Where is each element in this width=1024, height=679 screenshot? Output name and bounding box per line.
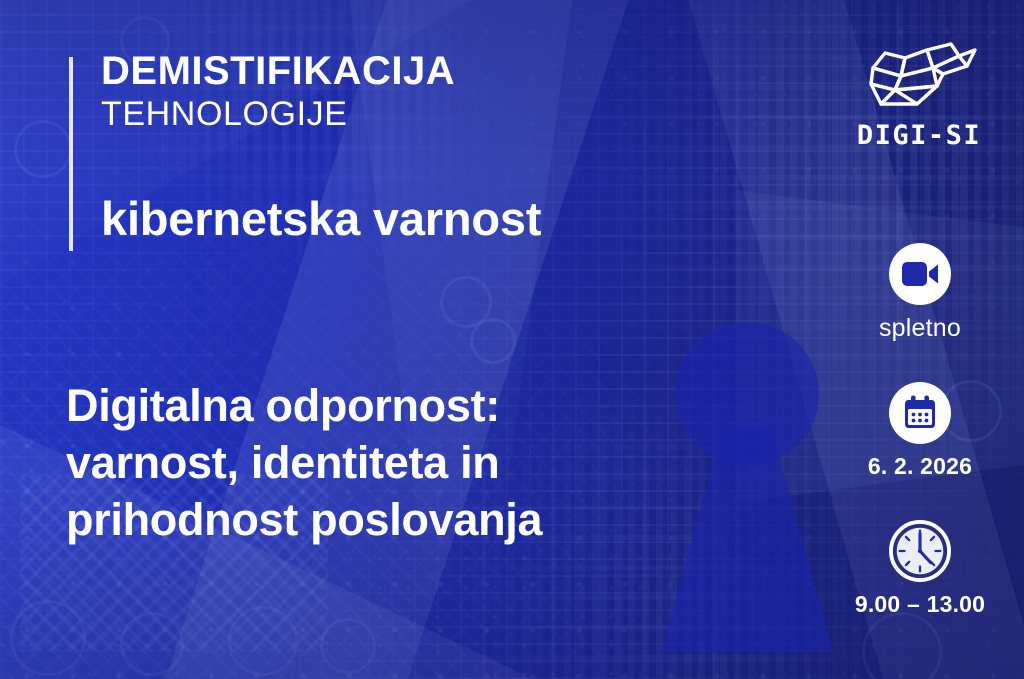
calendar-icon <box>889 382 951 444</box>
kicker-line-2: TEHNOLOGIJE <box>101 95 455 133</box>
page-title: Digitalna odpornost: varnost, identiteta… <box>66 377 542 548</box>
polygonal-slovenia-map-icon <box>855 34 983 114</box>
headline-line-2: varnost, identiteta in <box>66 434 542 491</box>
detail-date-caption: 6. 2. 2026 <box>816 453 1024 480</box>
brand-wordmark: DIGI-SI <box>834 120 1004 151</box>
headline-line-3: prihodnost poslovanja <box>66 491 542 548</box>
event-poster: DEMISTIFIKACIJA TEHNOLOGIJE kibernetska … <box>0 0 1024 679</box>
kicker-line-1: DEMISTIFIKACIJA <box>101 50 455 93</box>
detail-web: spletno <box>816 243 1024 343</box>
keyhole-stem <box>661 428 833 652</box>
detail-time-caption: 9.00 – 13.00 <box>816 591 1024 618</box>
vertical-rule-icon <box>69 57 73 251</box>
keyhole-icon <box>661 322 833 652</box>
detail-time: 9.00 – 13.00 <box>816 520 1024 618</box>
headline-line-1: Digitalna odpornost: <box>66 377 542 434</box>
topic-title: kibernetska varnost <box>101 191 541 246</box>
kicker-block: DEMISTIFIKACIJA TEHNOLOGIJE <box>101 50 455 133</box>
clock-icon <box>889 520 951 582</box>
info-rail: DIGI-SI spletno <box>816 0 1024 679</box>
brand-logo: DIGI-SI <box>834 34 1004 151</box>
video-camera-icon <box>889 243 951 305</box>
detail-date: 6. 2. 2026 <box>816 382 1024 480</box>
detail-web-caption: spletno <box>816 314 1024 343</box>
